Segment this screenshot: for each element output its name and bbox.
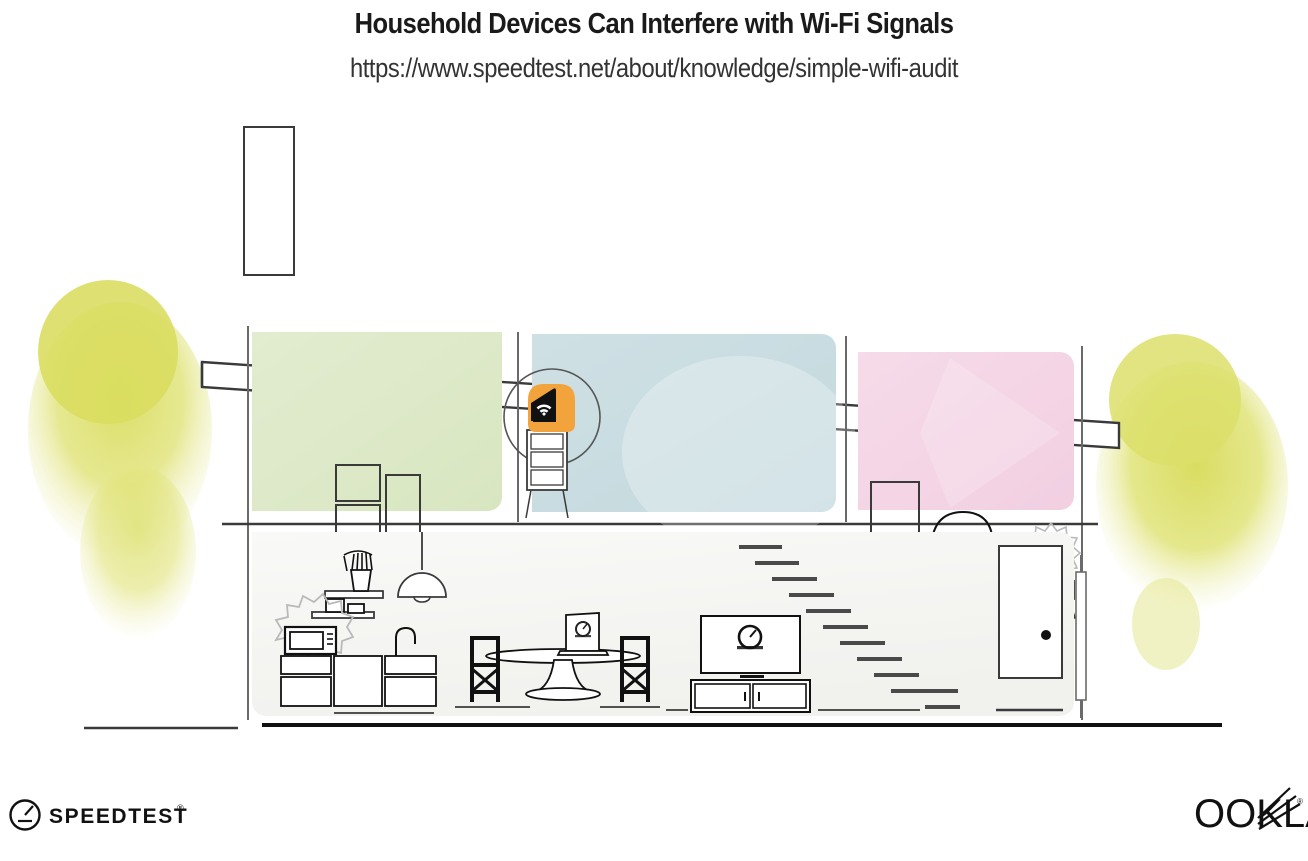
room-downstairs	[252, 532, 1074, 716]
speedtest-logo[interactable]: SPEEDTEST ®	[11, 801, 189, 830]
footer-logos: SPEEDTEST ® OOKLA ®	[0, 780, 1308, 850]
infographic-canvas: Household Devices Can Interfere with Wi-…	[0, 0, 1308, 861]
wifi-router	[528, 384, 575, 432]
microwave	[285, 627, 336, 654]
television-speedtest	[701, 616, 800, 678]
speedtest-wordmark: SPEEDTEST	[49, 805, 188, 828]
media-console	[691, 680, 810, 712]
speedtest-trademark: ®	[177, 803, 184, 813]
chimney	[244, 127, 294, 275]
foliage-left	[28, 280, 212, 638]
house-illustration	[0, 100, 1308, 760]
sidelight-window	[1076, 555, 1086, 718]
door-knob[interactable]	[1041, 630, 1051, 640]
ookla-logo[interactable]: OOKLA ®	[1194, 788, 1308, 836]
ookla-trademark: ®	[1297, 797, 1303, 806]
page-title: Household Devices Can Interfere with Wi-…	[78, 8, 1229, 41]
foliage-right	[1096, 334, 1288, 670]
speedtest-gauge-icon	[11, 801, 40, 830]
source-url: https://www.speedtest.net/about/knowledg…	[78, 53, 1229, 84]
